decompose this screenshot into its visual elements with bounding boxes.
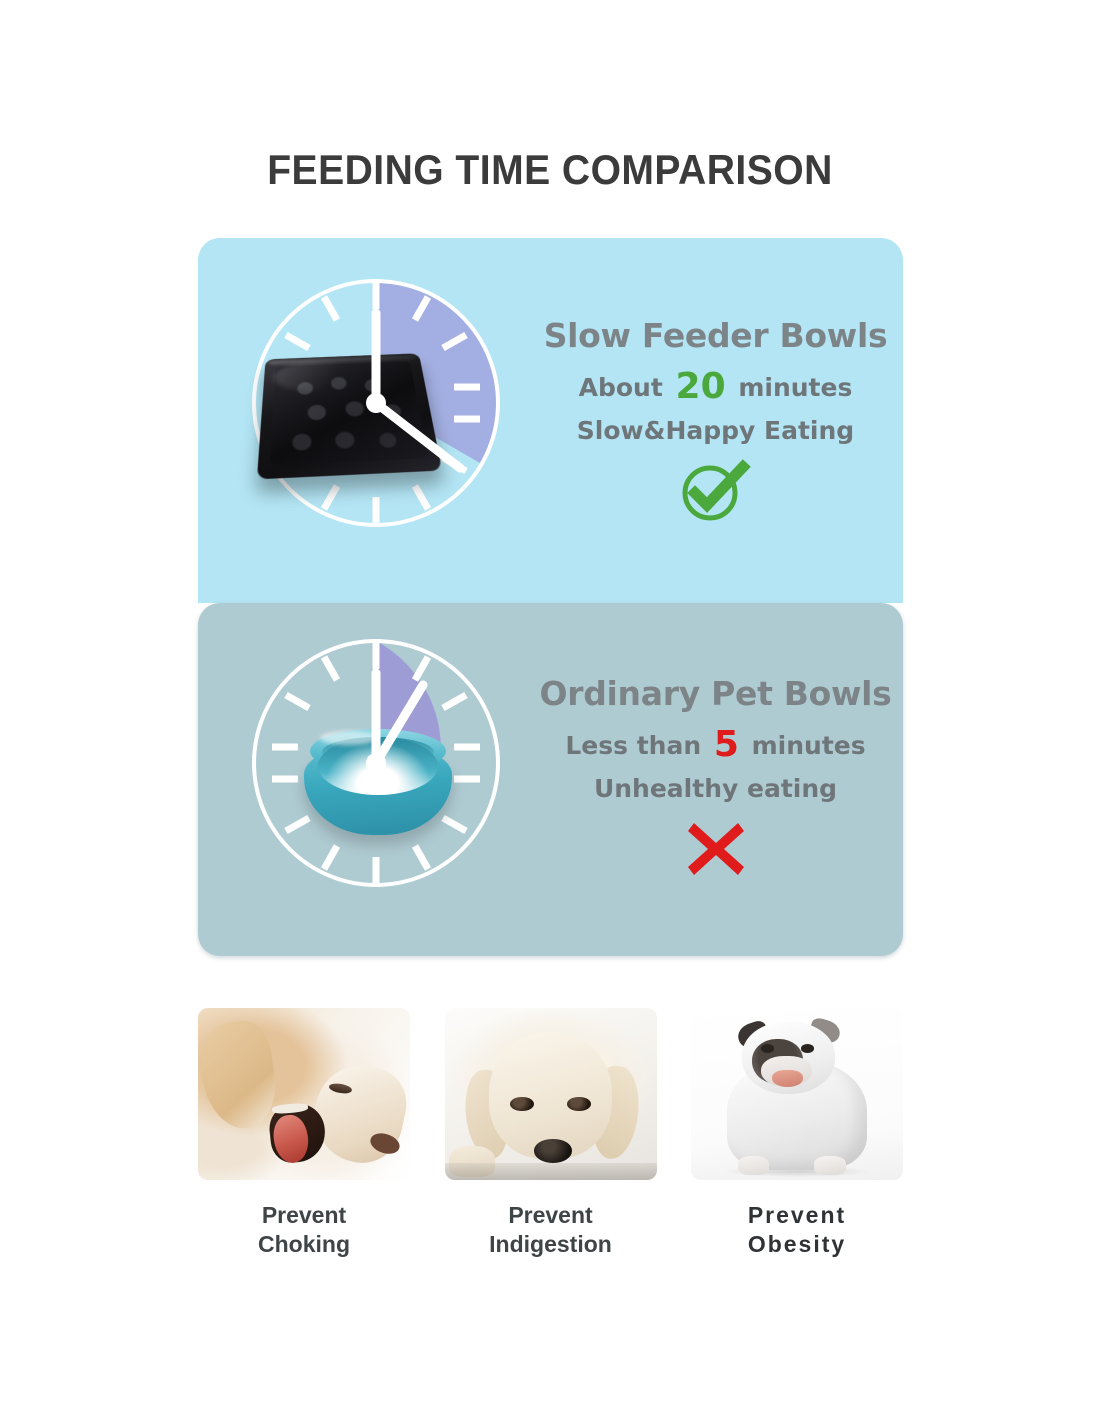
benefit-indigestion-line1: Prevent [445, 1201, 657, 1230]
slow-feeder-time-line: About 20 minutes [528, 366, 903, 407]
clock-slow-feeder [238, 265, 514, 541]
benefit-obesity-line2: Obesity [691, 1230, 903, 1259]
clock-center-hub [366, 753, 386, 773]
slow-feeder-time-prefix: About [579, 373, 663, 402]
slow-feeder-eating-note: Slow&Happy Eating [528, 417, 903, 446]
clock-ordinary-bowl [238, 625, 514, 901]
slow-feeder-verdict [528, 459, 903, 523]
feeding-time-comparison-card: Slow Feeder Bowls About 20 minutes Slow&… [198, 238, 903, 956]
benefit-obesity-line1: Prevent [691, 1201, 903, 1230]
benefit-indigestion-caption: Prevent Indigestion [445, 1201, 657, 1260]
benefit-indigestion: Prevent Indigestion [445, 1008, 657, 1260]
clock-minute-hand [376, 403, 460, 468]
benefit-indigestion-line2: Indigestion [445, 1230, 657, 1259]
benefit-obesity-caption: Prevent Obesity [691, 1201, 903, 1260]
overweight-bulldog-photo [691, 1008, 903, 1180]
panel-slow-feeder: Slow Feeder Bowls About 20 minutes Slow&… [198, 238, 903, 603]
clock-minute-hand [376, 685, 423, 763]
clock-center-hub [366, 393, 386, 413]
ordinary-bowl-heading: Ordinary Pet Bowls [528, 676, 903, 712]
sad-puppy-photo [445, 1008, 657, 1180]
ordinary-bowl-verdict [528, 817, 903, 881]
panel-ordinary-bowl: Ordinary Pet Bowls Less than 5 minutes U… [198, 603, 903, 956]
ordinary-bowl-time-line: Less than 5 minutes [528, 724, 903, 765]
benefit-choking-line2: Choking [198, 1230, 410, 1259]
check-circle-icon [677, 459, 755, 523]
slow-feeder-text-block: Slow Feeder Bowls About 20 minutes Slow&… [528, 318, 903, 523]
ordinary-bowl-time-value: 5 [710, 724, 743, 765]
benefit-choking: Prevent Choking [198, 1008, 410, 1260]
slow-feeder-time-value: 20 [672, 366, 730, 407]
ordinary-bowl-time-prefix: Less than [565, 731, 701, 760]
dog-coughing-photo [198, 1008, 410, 1180]
benefit-choking-line1: Prevent [198, 1201, 410, 1230]
benefits-row: Prevent Choking Prevent Indigestion [198, 1008, 903, 1260]
benefit-choking-caption: Prevent Choking [198, 1201, 410, 1260]
page-title: FEEDING TIME COMPARISON [39, 146, 1062, 194]
benefit-obesity: Prevent Obesity [691, 1008, 903, 1260]
ordinary-bowl-eating-note: Unhealthy eating [528, 775, 903, 804]
slow-feeder-heading: Slow Feeder Bowls [528, 318, 903, 354]
slow-feeder-time-suffix: minutes [738, 373, 852, 402]
ordinary-bowl-text-block: Ordinary Pet Bowls Less than 5 minutes U… [528, 676, 903, 881]
ordinary-bowl-time-suffix: minutes [752, 731, 866, 760]
red-cross-icon [684, 819, 748, 879]
